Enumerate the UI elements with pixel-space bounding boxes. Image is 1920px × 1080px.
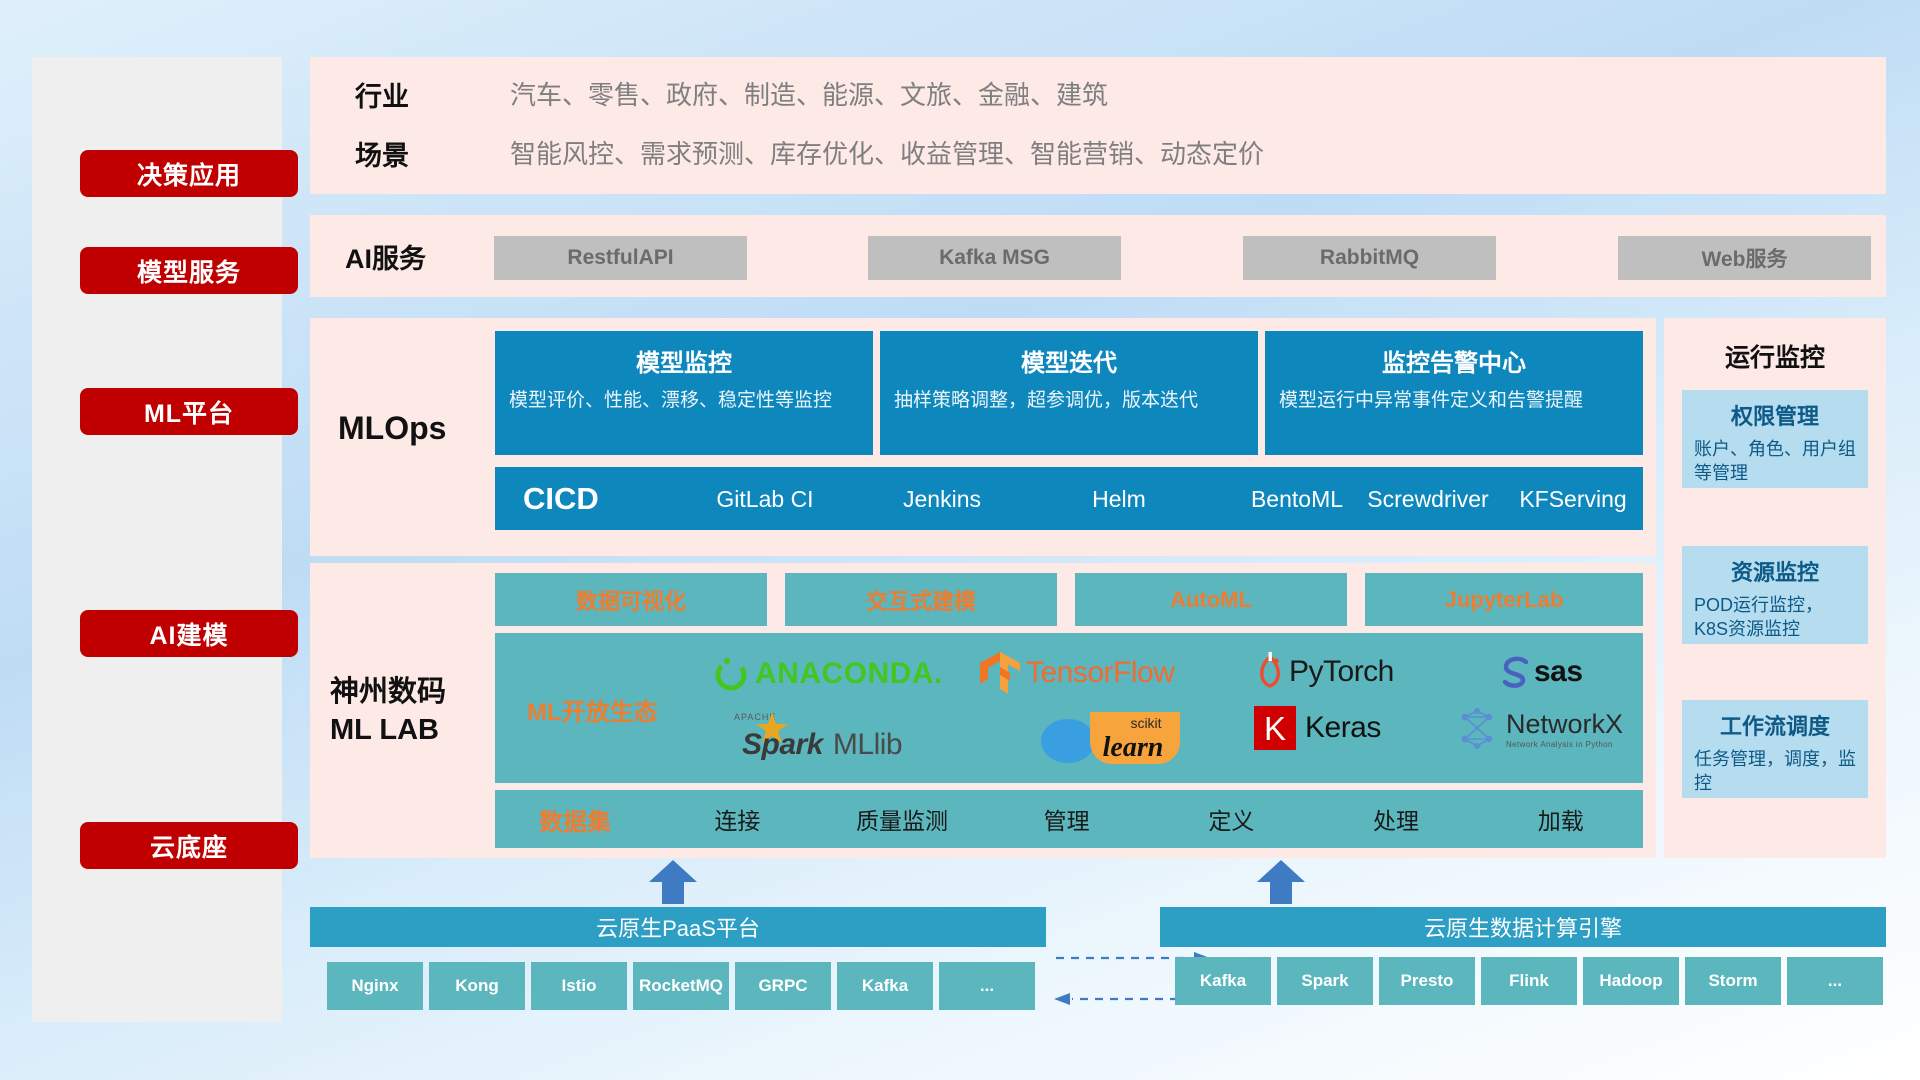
- networkx-icon: [1455, 706, 1501, 752]
- scikit-learn-logo: scikit learn: [1038, 706, 1208, 768]
- rail-item-decision-application[interactable]: 决策应用: [80, 150, 298, 197]
- scenario-value: 智能风控、需求预测、库存优化、收益管理、智能营销、动态定价: [510, 134, 1264, 171]
- tab-label: 数据可视化: [576, 584, 686, 616]
- card-desc: 抽样策略调整，超参调优，版本迭代: [894, 388, 1244, 414]
- chip-label: Storm: [1708, 971, 1757, 991]
- card-desc: 模型评价、性能、漂移、稳定性等监控: [509, 388, 859, 414]
- cloud-chip-more-right[interactable]: ...: [1787, 957, 1883, 1005]
- dataset-item-processing[interactable]: 处理: [1314, 802, 1479, 836]
- tab-label: 交互式建模: [866, 584, 976, 616]
- industry-label: 行业: [355, 74, 475, 114]
- dataset-item-connect[interactable]: 连接: [655, 802, 820, 836]
- chip-label: Istio: [562, 976, 597, 996]
- anaconda-icon: [712, 655, 750, 693]
- chip-label: Web服务: [1702, 243, 1788, 273]
- dataset-row-head: 数据集: [495, 802, 655, 837]
- cloud-chip-istio[interactable]: Istio: [531, 962, 627, 1010]
- scenario-label: 场景: [355, 133, 475, 173]
- monitoring-card-workflow[interactable]: 工作流调度 任务管理，调度，监控: [1682, 700, 1868, 798]
- pytorch-wordmark: PyTorch: [1289, 655, 1394, 689]
- spark-mllib-logo: APACHE Spark MLlib: [728, 708, 902, 764]
- chip-label: Presto: [1401, 971, 1454, 991]
- svg-text:K: K: [1264, 710, 1286, 747]
- monitoring-card-permission[interactable]: 权限管理 账户、角色、用户组等管理: [1682, 390, 1868, 488]
- rail-item-label: 决策应用: [137, 156, 241, 192]
- cloud-chip-flink[interactable]: Flink: [1481, 957, 1577, 1005]
- networkx-logo: NetworkX Network Analysis in Python: [1455, 706, 1623, 752]
- cicd-item-kfserving[interactable]: KFServing: [1503, 467, 1643, 514]
- dataset-item-definition[interactable]: 定义: [1149, 802, 1314, 836]
- tensorflow-wordmark: TensorFlow: [1026, 656, 1174, 690]
- chip-label: Kafka: [1200, 971, 1246, 991]
- cloud-bar-data-engine[interactable]: 云原生数据计算引擎: [1160, 907, 1886, 947]
- chip-label: Kafka: [862, 976, 908, 996]
- ai-service-chip-restfulapi[interactable]: RestfulAPI: [494, 236, 747, 280]
- cicd-title: CICD: [495, 467, 643, 517]
- industry-value: 汽车、零售、政府、制造、能源、文旅、金融、建筑: [510, 75, 1108, 112]
- mllib-wordmark: MLlib: [833, 728, 902, 762]
- keras-logo: K Keras: [1253, 705, 1381, 751]
- rail-item-cloud-base[interactable]: 云底座: [80, 822, 298, 869]
- networkx-tagline: Network Analysis in Python: [1506, 740, 1623, 749]
- tab-label: AutoML: [1170, 587, 1252, 613]
- chip-label: GRPC: [758, 976, 807, 996]
- cloud-chip-kong[interactable]: Kong: [429, 962, 525, 1010]
- spark-wordmark: Spark: [742, 728, 823, 762]
- cloud-chip-kafka-right[interactable]: Kafka: [1175, 957, 1271, 1005]
- card-desc: POD运行监控，K8S资源监控: [1694, 593, 1856, 642]
- keras-icon: K: [1253, 705, 1297, 751]
- chip-label: RabbitMQ: [1320, 246, 1419, 270]
- cloud-chip-rocketmq[interactable]: RocketMQ: [633, 962, 729, 1010]
- rail-item-ai-modeling[interactable]: AI建模: [80, 610, 298, 657]
- chip-label: RocketMQ: [639, 976, 723, 996]
- tensorflow-logo: TensorFlow: [978, 650, 1174, 696]
- chip-label: Hadoop: [1599, 971, 1662, 991]
- sas-wordmark: sas: [1534, 655, 1583, 689]
- ml-ecosystem-label: ML开放生态: [527, 692, 658, 727]
- cloud-chip-hadoop[interactable]: Hadoop: [1583, 957, 1679, 1005]
- chip-label: RestfulAPI: [567, 246, 673, 270]
- card-title: 模型监控: [509, 343, 859, 378]
- monitoring-title: 运行监控: [1664, 338, 1886, 374]
- sas-logo: sas: [1499, 655, 1583, 689]
- ml-lab-label: 神州数码 ML LAB: [330, 672, 505, 752]
- mlops-label: MLOps: [338, 405, 498, 451]
- ai-service-label: AI服务: [345, 235, 495, 277]
- rail-item-label: 模型服务: [137, 253, 241, 289]
- ml-lab-tab-automl[interactable]: AutoML: [1075, 573, 1347, 626]
- card-title: 资源监控: [1694, 555, 1856, 587]
- dataset-item-quality-monitoring[interactable]: 质量监测: [820, 802, 985, 836]
- networkx-wordmark: NetworkX: [1506, 709, 1623, 740]
- keras-wordmark: Keras: [1305, 711, 1381, 745]
- monitoring-card-resource[interactable]: 资源监控 POD运行监控，K8S资源监控: [1682, 546, 1868, 644]
- ml-lab-label-line1: 神州数码: [330, 674, 446, 712]
- card-title: 工作流调度: [1694, 709, 1856, 741]
- chip-label: Kong: [455, 976, 498, 996]
- chip-label: ...: [1828, 971, 1842, 991]
- chip-label: Nginx: [351, 976, 398, 996]
- scikit-learn-icon: scikit learn: [1038, 706, 1208, 768]
- cloud-chip-presto[interactable]: Presto: [1379, 957, 1475, 1005]
- rail-item-label: AI建模: [149, 616, 228, 652]
- cloud-chip-spark[interactable]: Spark: [1277, 957, 1373, 1005]
- anaconda-wordmark: ANACONDA.: [755, 657, 943, 691]
- rail-item-model-service[interactable]: 模型服务: [80, 247, 298, 294]
- cloud-chip-nginx[interactable]: Nginx: [327, 962, 423, 1010]
- left-rail: 决策应用 模型服务 ML平台 AI建模 云底座: [32, 57, 282, 1022]
- cloud-chip-storm[interactable]: Storm: [1685, 957, 1781, 1005]
- card-desc: 账户、角色、用户组等管理: [1694, 437, 1856, 486]
- cloud-chip-grpc[interactable]: GRPC: [735, 962, 831, 1010]
- tab-label: JupyterLab: [1445, 587, 1564, 613]
- ai-service-chip-web-service[interactable]: Web服务: [1618, 236, 1871, 280]
- arrow-up-data-engine-icon: [1253, 858, 1309, 906]
- card-title: 模型迭代: [894, 343, 1244, 378]
- cicd-item-helm[interactable]: Helm: [997, 467, 1241, 514]
- svg-text:learn: learn: [1103, 732, 1164, 763]
- cloud-bar-paas[interactable]: 云原生PaaS平台: [310, 907, 1046, 947]
- cicd-item-gitlab-ci[interactable]: GitLab CI: [643, 467, 887, 514]
- cloud-chip-kafka-left[interactable]: Kafka: [837, 962, 933, 1010]
- chip-label: Flink: [1509, 971, 1549, 991]
- chip-label: ...: [980, 976, 994, 996]
- cicd-item-jenkins[interactable]: Jenkins: [887, 467, 997, 514]
- card-desc: 任务管理，调度，监控: [1694, 747, 1856, 796]
- pytorch-logo: PyTorch: [1253, 652, 1394, 692]
- dataset-item-management[interactable]: 管理: [984, 802, 1149, 836]
- arrow-up-paas-icon: [645, 858, 701, 906]
- dataset-item-loading[interactable]: 加载: [1478, 802, 1643, 836]
- sas-icon: [1499, 655, 1533, 689]
- mlops-card-model-monitoring[interactable]: 模型监控 模型评价、性能、漂移、稳定性等监控: [495, 331, 873, 455]
- rail-item-ml-platform[interactable]: ML平台: [80, 388, 298, 435]
- ml-lab-tab-interactive-modeling[interactable]: 交互式建模: [785, 573, 1057, 626]
- cloud-chip-more-left[interactable]: ...: [939, 962, 1035, 1010]
- cloud-bar-label: 云原生数据计算引擎: [1424, 911, 1622, 943]
- ml-lab-label-line2: ML LAB: [330, 712, 439, 750]
- card-title: 监控告警中心: [1279, 343, 1629, 378]
- mlops-card-alert-center[interactable]: 监控告警中心 模型运行中异常事件定义和告警提醒: [1265, 331, 1643, 455]
- rail-item-label: 云底座: [150, 828, 228, 864]
- chip-label: Kafka MSG: [939, 246, 1050, 270]
- card-desc: 模型运行中异常事件定义和告警提醒: [1279, 388, 1629, 414]
- ml-lab-tab-data-visualization[interactable]: 数据可视化: [495, 573, 767, 626]
- ai-service-chip-rabbitmq[interactable]: RabbitMQ: [1243, 236, 1496, 280]
- card-title: 权限管理: [1694, 399, 1856, 431]
- cloud-bar-label: 云原生PaaS平台: [596, 911, 760, 943]
- ai-service-chip-kafka-msg[interactable]: Kafka MSG: [868, 236, 1121, 280]
- pytorch-icon: [1253, 652, 1287, 692]
- cicd-item-screwdriver[interactable]: Screwdriver: [1353, 467, 1503, 514]
- ml-lab-tab-jupyterlab[interactable]: JupyterLab: [1365, 573, 1643, 626]
- dataset-row: 数据集 连接 质量监测 管理 定义 处理 加载: [495, 790, 1643, 848]
- tensorflow-icon: [978, 650, 1022, 696]
- svg-text:scikit: scikit: [1130, 715, 1161, 731]
- cicd-bar: CICD GitLab CI Jenkins Helm BentoML Scre…: [495, 467, 1643, 530]
- chip-label: Spark: [1301, 971, 1348, 991]
- mlops-card-model-iteration[interactable]: 模型迭代 抽样策略调整，超参调优，版本迭代: [880, 331, 1258, 455]
- anaconda-logo: ANACONDA.: [712, 655, 943, 693]
- rail-item-label: ML平台: [144, 394, 234, 430]
- cicd-item-bentoml[interactable]: BentoML: [1241, 467, 1353, 514]
